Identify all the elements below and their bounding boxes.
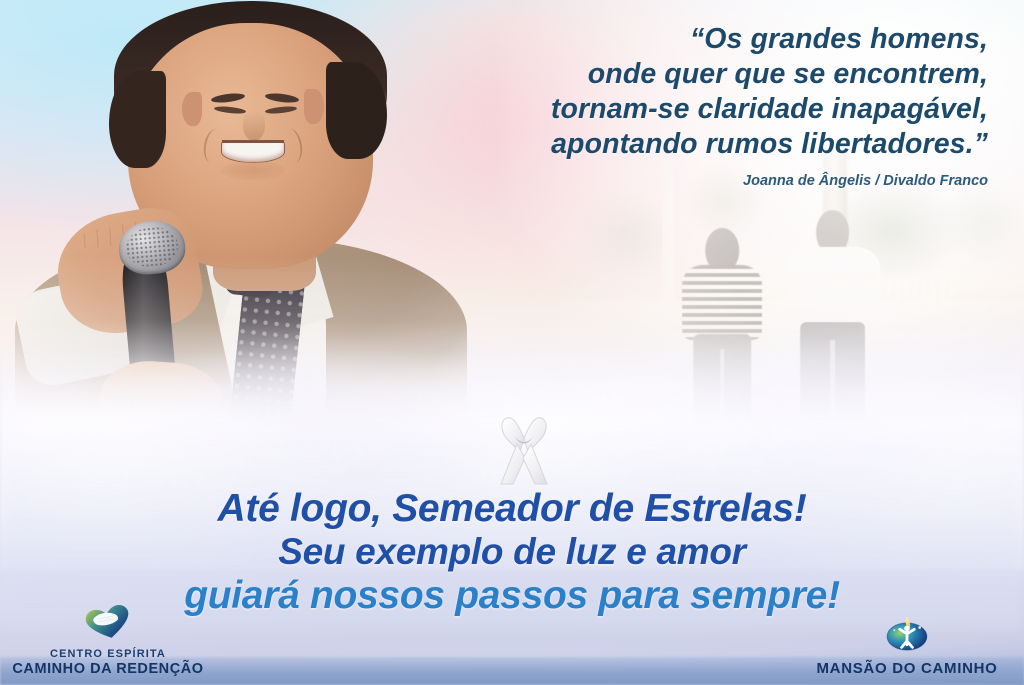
logo-centro-espirita[interactable]: CENTRO ESPÍRITA CAMINHO DA REDENÇÃO <box>8 601 208 677</box>
portrait-hair-side-left <box>109 71 165 168</box>
photo-walker-striped-shirt <box>682 228 762 414</box>
photo-walker-white-shirt <box>786 210 880 414</box>
quote-text: “Os grandes homens, onde quer que se enc… <box>348 22 988 162</box>
portrait-ear-right <box>304 89 324 123</box>
walker-torso <box>682 265 762 339</box>
portrait-smiling-mouth <box>221 141 285 163</box>
white-mourning-ribbon-icon <box>487 408 561 490</box>
headline-block: Até logo, Semeador de Estrelas! Seu exem… <box>0 487 1024 618</box>
quote-line-2: onde quer que se encontrem, <box>348 57 988 92</box>
walker-legs <box>693 334 751 420</box>
heart-hands-icon <box>8 601 208 646</box>
portrait-eyebrow-right <box>265 92 300 104</box>
quote-line-1: “Os grandes homens, <box>348 22 988 57</box>
portrait-eyebrow-left <box>211 92 246 104</box>
headline-line-1: Até logo, Semeador de Estrelas! <box>0 487 1024 531</box>
portrait-ear-left <box>182 92 202 126</box>
walker-torso <box>786 247 880 329</box>
logo-left-line-1: CENTRO ESPÍRITA <box>8 648 208 661</box>
headline-line-2: Seu exemplo de luz e amor <box>0 531 1024 573</box>
logo-left-line-2: CAMINHO DA REDENÇÃO <box>8 661 208 677</box>
logo-right-line-1: MANSÃO DO CAMINHO <box>802 660 1012 677</box>
quote-line-4: apontando rumos libertadores.” <box>348 127 988 162</box>
portrait-nose <box>243 111 265 141</box>
two-people-walking-photo <box>560 150 1024 450</box>
portrait-eye-left <box>213 105 245 115</box>
globe-figure-flame-icon <box>802 611 1012 658</box>
walker-legs <box>800 322 866 420</box>
quote-attribution: Joanna de Ângelis / Divaldo Franco <box>348 173 988 189</box>
portrait-chin <box>221 161 285 181</box>
logo-mansao-do-caminho[interactable]: MANSÃO DO CAMINHO <box>802 611 1012 677</box>
portrait-eye-right <box>265 105 297 115</box>
memorial-poster: “Os grandes homens, onde quer que se enc… <box>0 0 1024 685</box>
quote-line-3: tornam-se claridade inapagável, <box>348 92 988 127</box>
